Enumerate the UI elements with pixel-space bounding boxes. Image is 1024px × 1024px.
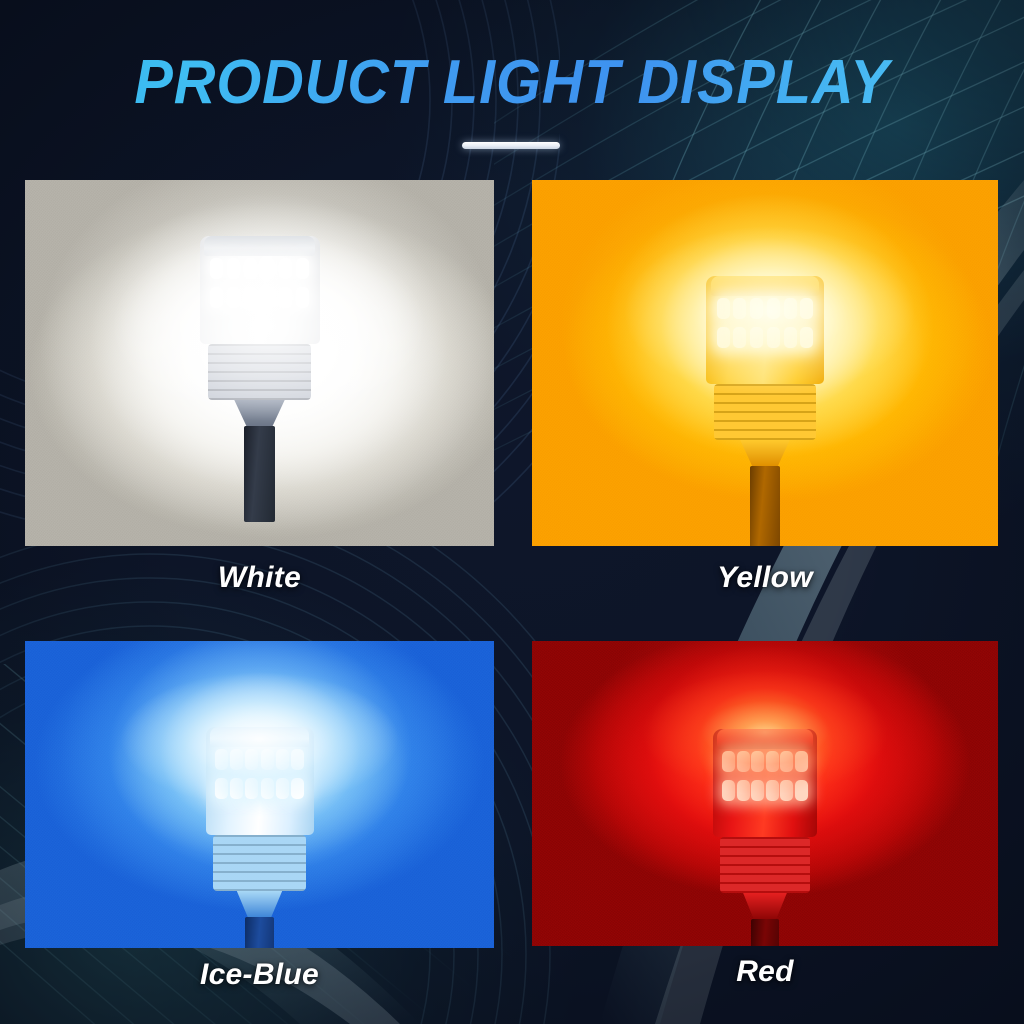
led-chip	[262, 287, 275, 308]
bulb-neck	[234, 400, 284, 426]
led-bulb-red	[713, 729, 817, 946]
bulb-heatsink	[208, 344, 311, 400]
led-chip	[733, 327, 746, 348]
led-chip-grid-white	[210, 258, 308, 308]
label-red: Red	[532, 955, 998, 989]
led-chip	[800, 327, 813, 348]
led-chip	[795, 751, 808, 772]
led-chip	[733, 298, 746, 319]
led-chip	[750, 327, 763, 348]
led-chip	[766, 780, 779, 801]
led-chip	[261, 749, 274, 770]
led-chip	[210, 287, 223, 308]
led-bulb-white	[200, 236, 320, 522]
bulb-base	[751, 919, 778, 946]
light-photo-white[interactable]	[25, 180, 494, 546]
bulb-neck	[237, 891, 282, 917]
led-chip	[276, 778, 289, 799]
led-chip	[296, 287, 309, 308]
led-chip	[230, 778, 243, 799]
led-chip	[737, 751, 750, 772]
led-chip	[766, 751, 779, 772]
led-chip	[215, 749, 228, 770]
page-title: PRODUCT LIGHT DISPLAY	[36, 52, 988, 114]
led-chip	[717, 327, 730, 348]
led-chip-grid-red	[722, 751, 807, 801]
led-chip	[230, 749, 243, 770]
label-yellow: Yellow	[532, 561, 998, 595]
bulb-heatsink	[213, 835, 306, 891]
light-photo-yellow[interactable]	[532, 180, 998, 546]
led-bulb-yellow	[706, 276, 824, 546]
led-chip-grid-yellow	[717, 298, 814, 348]
led-chip	[751, 751, 764, 772]
led-chip	[767, 298, 780, 319]
led-chip	[800, 298, 813, 319]
led-chip	[784, 327, 797, 348]
led-chip	[245, 749, 258, 770]
bulb-base	[245, 917, 273, 948]
bulb-neck	[743, 893, 787, 919]
led-chip	[227, 258, 240, 279]
led-chip	[227, 287, 240, 308]
led-chip	[245, 778, 258, 799]
led-chip	[291, 778, 304, 799]
light-photo-ice-blue[interactable]	[25, 641, 494, 948]
led-chip	[279, 287, 292, 308]
led-chip	[210, 258, 223, 279]
led-bulb-ice-blue	[206, 727, 314, 948]
label-ice-blue: Ice-Blue	[25, 958, 494, 992]
bulb-base	[244, 426, 275, 522]
led-chip	[780, 780, 793, 801]
led-chip-grid-ice-blue	[215, 749, 304, 799]
led-chip	[784, 298, 797, 319]
led-chip	[296, 258, 309, 279]
light-photo-red[interactable]	[532, 641, 998, 946]
led-chip	[244, 287, 257, 308]
led-chip	[261, 778, 274, 799]
led-chip	[279, 258, 292, 279]
bulb-base	[750, 466, 781, 546]
led-chip	[215, 778, 228, 799]
led-chip	[737, 780, 750, 801]
led-chip	[722, 780, 735, 801]
led-chip	[717, 298, 730, 319]
bulb-neck	[740, 440, 790, 466]
led-chip	[795, 780, 808, 801]
led-chip	[244, 258, 257, 279]
header: PRODUCT LIGHT DISPLAY PRODUCT LIGHT DISP…	[0, 0, 1024, 168]
led-chip	[767, 327, 780, 348]
led-chip	[262, 258, 275, 279]
led-chip	[722, 751, 735, 772]
led-chip	[750, 298, 763, 319]
led-chip	[751, 780, 764, 801]
bulb-heatsink	[720, 837, 809, 893]
led-chip	[276, 749, 289, 770]
led-chip	[780, 751, 793, 772]
led-chip	[291, 749, 304, 770]
title-divider	[462, 142, 560, 149]
label-white: White	[25, 561, 494, 595]
bulb-heatsink	[714, 384, 815, 440]
